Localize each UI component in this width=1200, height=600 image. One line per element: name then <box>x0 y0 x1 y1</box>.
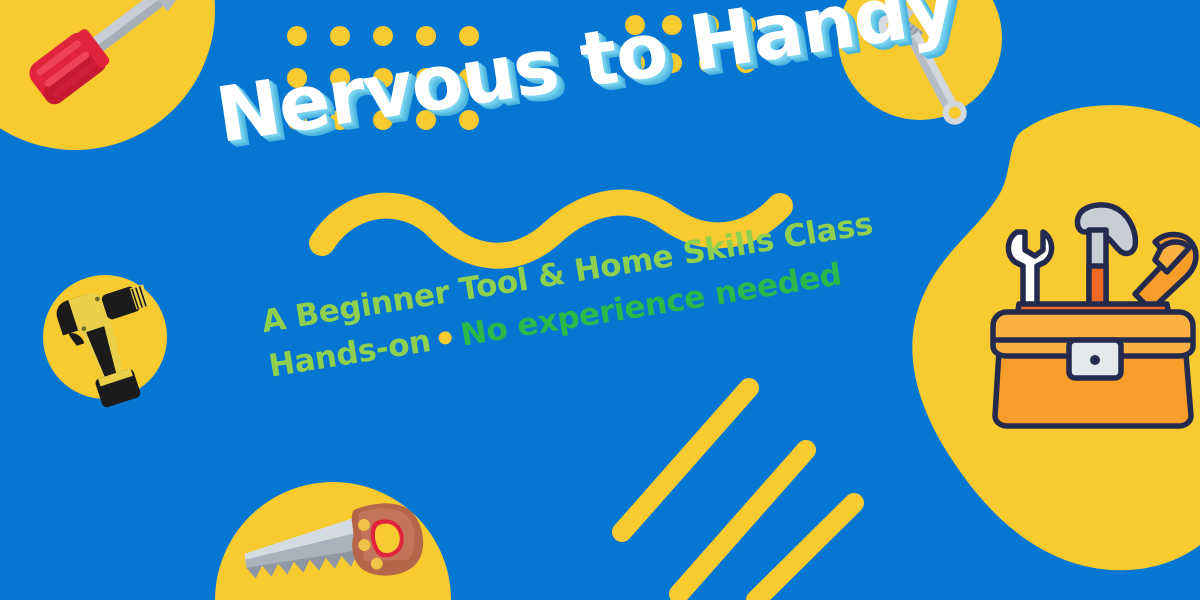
toolbox-icon <box>993 205 1196 426</box>
event-banner: Nervous to Handy A Beginner Tool & Home … <box>0 0 1200 600</box>
background-decorations <box>0 0 1200 600</box>
